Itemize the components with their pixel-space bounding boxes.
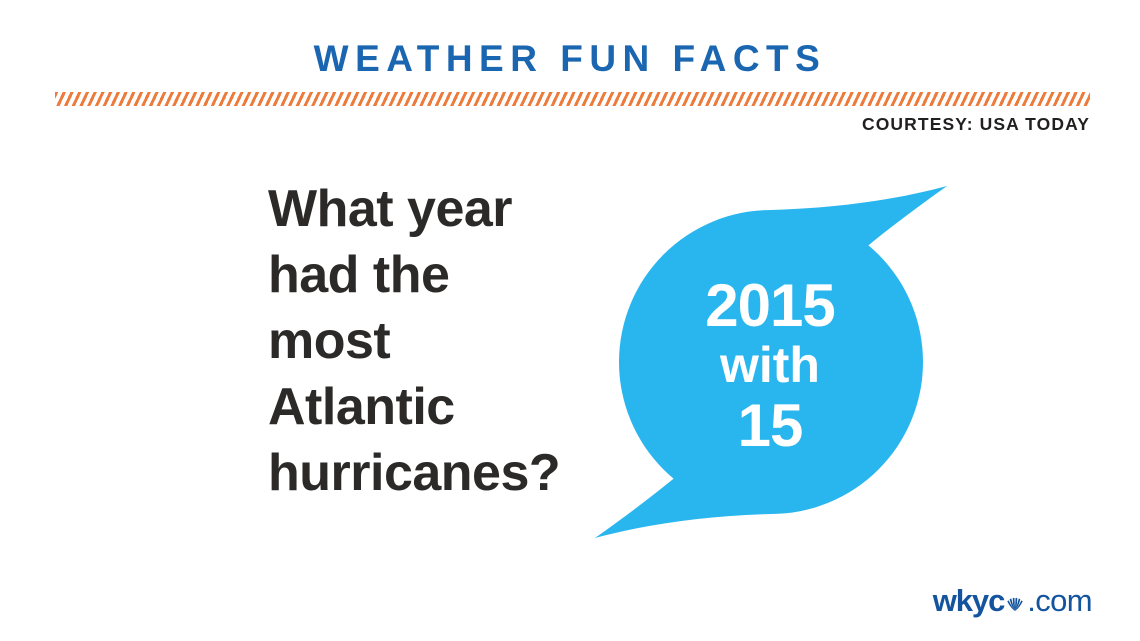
station-logo-domain: .com	[1027, 585, 1092, 616]
question-text: What year had the most Atlantic hurrican…	[268, 176, 598, 506]
question-line-5: hurricanes?	[268, 440, 598, 506]
question-line-2: had the	[268, 242, 598, 308]
answer-count: 15	[645, 395, 895, 456]
question-line-1: What year	[268, 176, 598, 242]
answer-year: 2015	[645, 275, 895, 336]
weather-fun-facts-graphic: WEATHER FUN FACTS COURTESY: USA TODAY Wh…	[0, 0, 1140, 641]
diagonal-stripe-divider-icon	[55, 92, 1090, 106]
station-logo[interactable]: wkyc .com	[933, 583, 1092, 617]
question-line-3: most	[268, 308, 598, 374]
question-line-4: Atlantic	[268, 374, 598, 440]
answer-connector: with	[645, 340, 895, 391]
nbc-peacock-icon	[1004, 591, 1026, 613]
page-title: WEATHER FUN FACTS	[0, 40, 1140, 77]
station-logo-wordmark: wkyc	[933, 585, 1004, 616]
courtesy-credit: COURTESY: USA TODAY	[862, 114, 1090, 135]
answer-text: 2015 with 15	[645, 275, 895, 456]
